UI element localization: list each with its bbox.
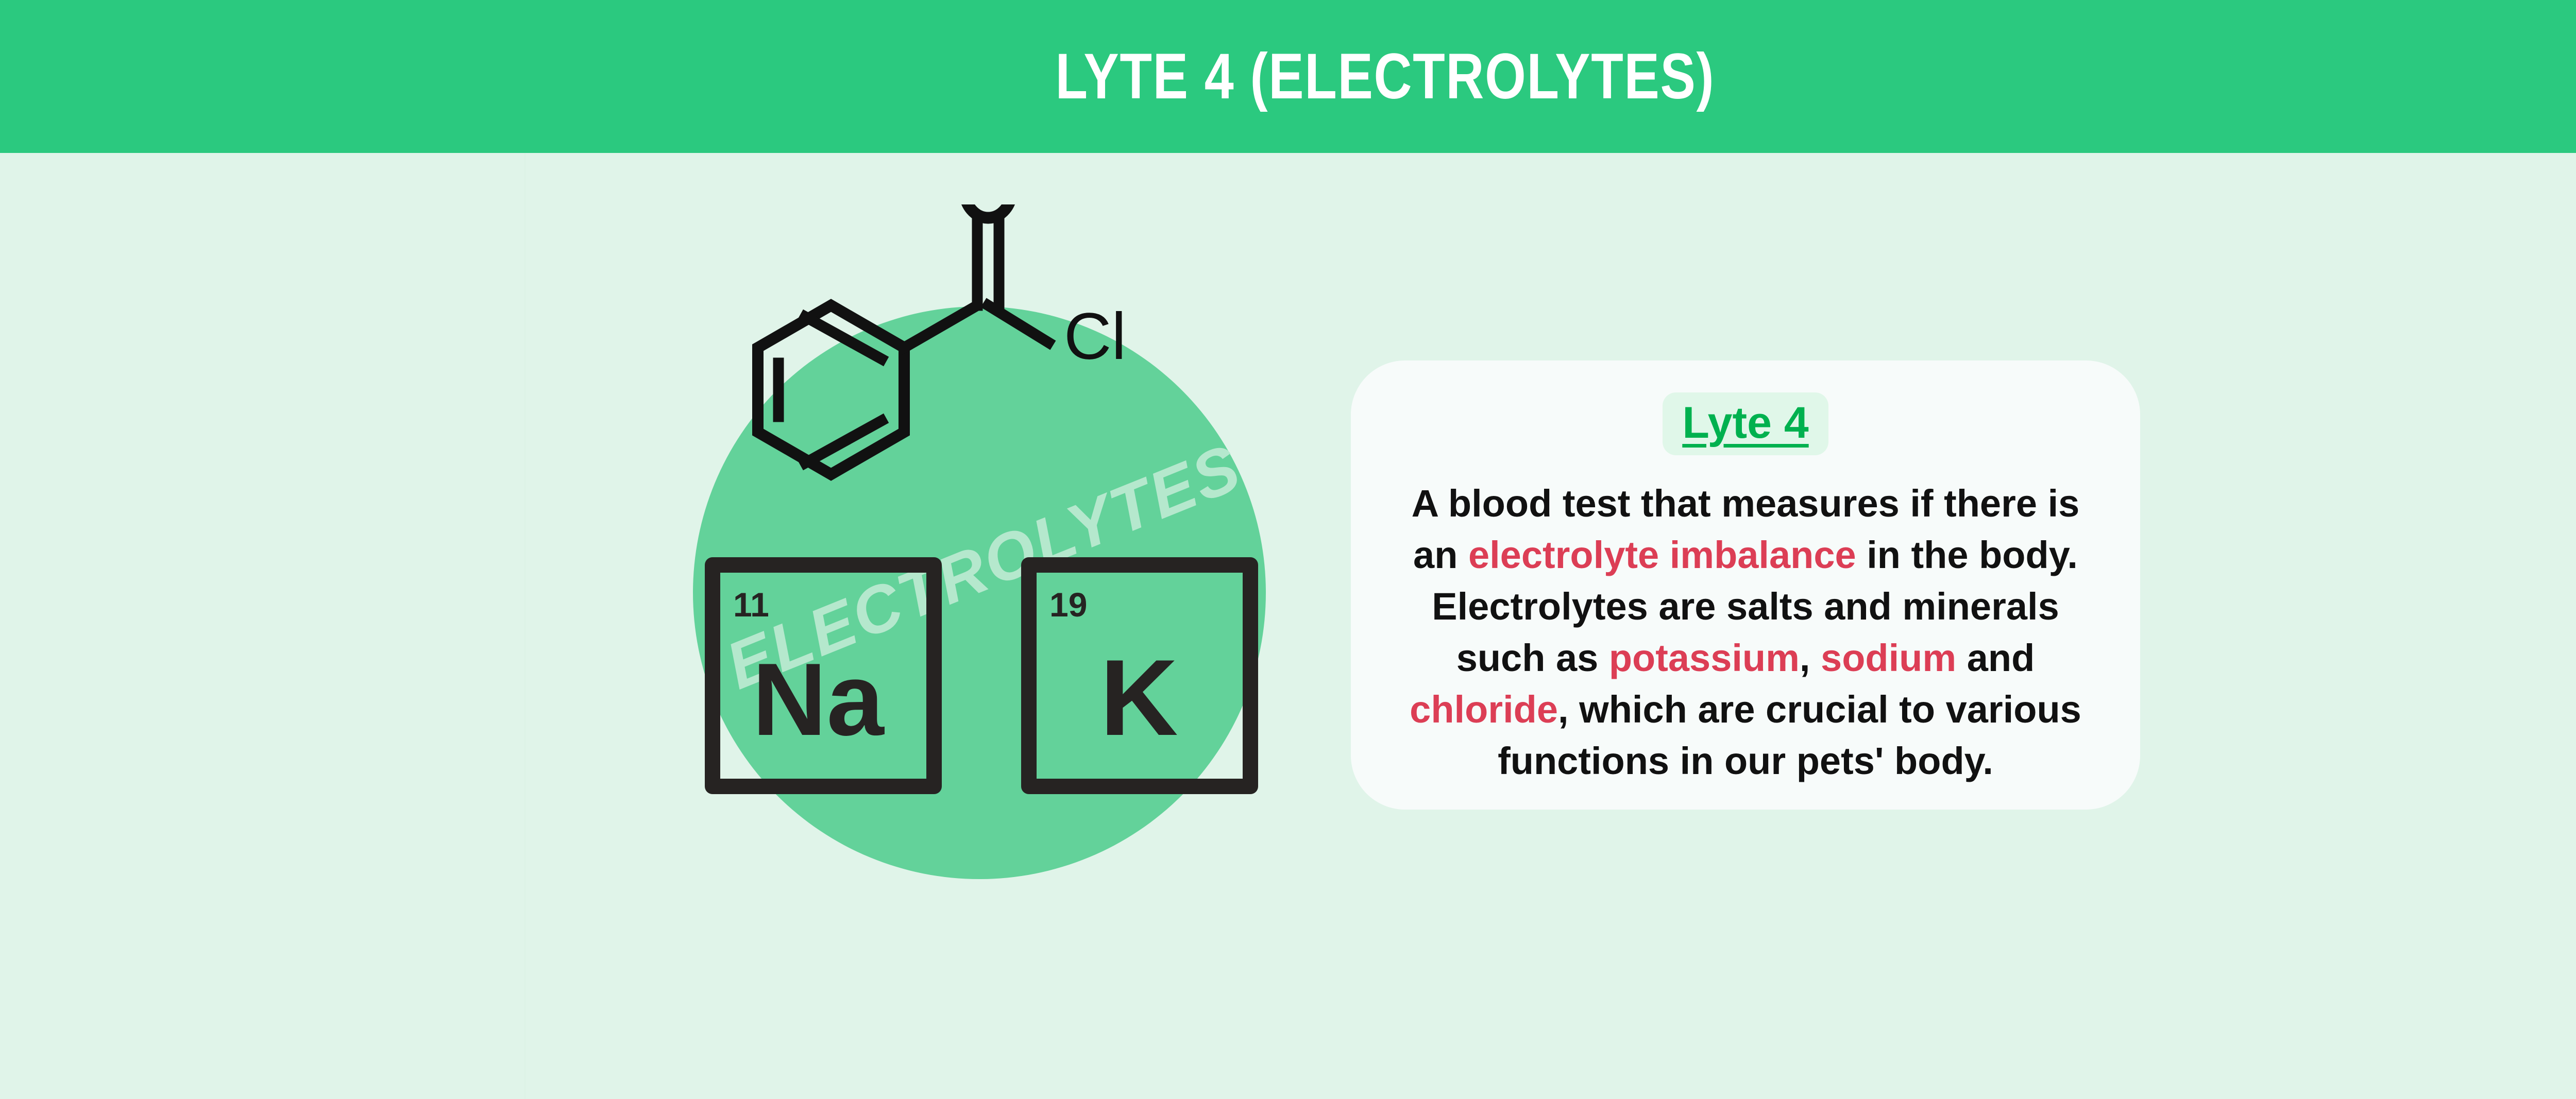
periodic-element-boxes: 11 Na 19 K [657, 204, 1306, 977]
paragraph-text: and [1956, 637, 2035, 679]
element-box-potassium: 19 K [1029, 565, 1250, 786]
paragraph-text: , [1800, 637, 1821, 679]
potassium-atomic-number: 19 [1049, 586, 1087, 624]
highlighted-term: electrolyte imbalance [1468, 534, 1856, 576]
page-header: LYTE 4 (ELECTROLYTES) [0, 0, 2576, 153]
paragraph-text: , which are crucial to various functions… [1498, 688, 2081, 782]
element-box-sodium: 11 Na [713, 565, 934, 786]
electrolytes-illustration: ELECTROLYTES Cl [657, 204, 1306, 977]
highlighted-term: chloride [1410, 688, 1558, 731]
card-badge: Lyte 4 [1663, 392, 1828, 455]
sodium-atomic-number: 11 [733, 586, 769, 624]
highlighted-term: sodium [1821, 637, 1956, 679]
potassium-symbol: K [1100, 637, 1178, 758]
page-body: ELECTROLYTES Cl [0, 153, 2576, 1099]
card-badge-label: Lyte 4 [1682, 401, 1808, 445]
card-description-paragraph: A blood test that measures if there is a… [1385, 478, 2106, 787]
sodium-symbol: Na [752, 642, 885, 757]
page-title: LYTE 4 (ELECTROLYTES) [1056, 44, 1715, 109]
highlighted-term: potassium [1609, 637, 1800, 679]
section-divider [524, 153, 526, 1099]
lyte4-info-card: Lyte 4 A blood test that measures if the… [1351, 360, 2140, 810]
